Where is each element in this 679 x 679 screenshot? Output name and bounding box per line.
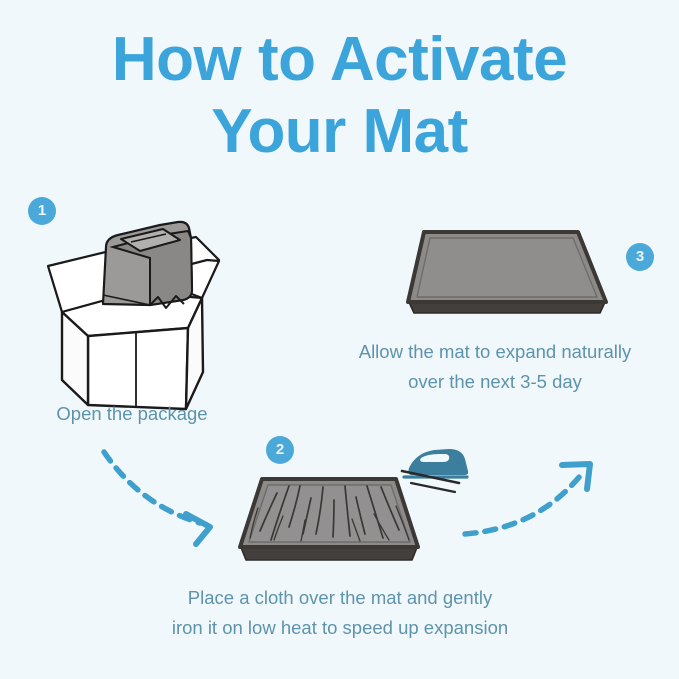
- mat-icon-expanded: [408, 232, 606, 313]
- step-3-caption: Allow the mat to expand naturally over t…: [315, 337, 675, 397]
- infographic-canvas: How to Activate Your Mat: [0, 0, 679, 679]
- step-3-caption-line-1: Allow the mat to expand naturally: [359, 341, 632, 362]
- step-1-caption-line: Open the package: [56, 403, 207, 424]
- mat-icon-with-cloth: [240, 479, 418, 560]
- step-1-caption: Open the package: [12, 399, 252, 429]
- step-3-caption-line-2: over the next 3-5 day: [408, 371, 582, 392]
- step-2-badge[interactable]: 2: [266, 436, 294, 464]
- step-2-caption-line-1: Place a cloth over the mat and gently: [188, 587, 492, 608]
- step-2-caption: Place a cloth over the mat and gently ir…: [120, 583, 560, 643]
- title-line-1: How to Activate: [0, 28, 679, 92]
- title-line-2: Your Mat: [0, 100, 679, 164]
- arrow-step2-to-step3: [465, 464, 590, 534]
- step-2-caption-line-2: iron it on low heat to speed up expansio…: [172, 617, 508, 638]
- iron-icon: [402, 449, 468, 492]
- step-3-badge[interactable]: 3: [626, 243, 654, 271]
- cardboard-box-icon: [48, 222, 219, 409]
- step-1-badge[interactable]: 1: [28, 197, 56, 225]
- arrow-step1-to-step2: [104, 452, 210, 544]
- page-title: How to Activate Your Mat: [0, 28, 679, 164]
